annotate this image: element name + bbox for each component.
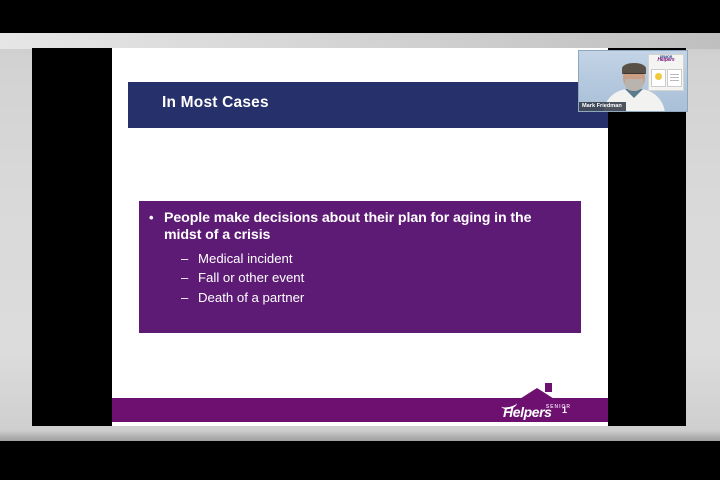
bullet-marker-icon: • xyxy=(149,210,164,226)
dash-marker-icon: – xyxy=(181,250,198,269)
poster-text-line xyxy=(670,74,679,75)
sub-bullet-text: Fall or other event xyxy=(198,268,304,287)
letterbox-bottom xyxy=(0,441,720,480)
main-bullet-text: People make decisions about their plan f… xyxy=(164,210,569,245)
list-item: – Fall or other event xyxy=(181,268,569,288)
dash-marker-icon: – xyxy=(181,269,198,288)
sub-bullet-text: Medical incident xyxy=(198,249,293,268)
poster-text-line xyxy=(670,77,679,78)
wall-poster: SENIOR Helpers xyxy=(648,54,684,91)
slide-title-bar: In Most Cases xyxy=(128,82,608,128)
participant-beard xyxy=(625,79,643,91)
frame-sheen xyxy=(0,33,720,49)
sub-bullet-text: Death of a partner xyxy=(198,288,304,307)
frame-shadow xyxy=(0,431,720,441)
main-bullet: • People make decisions about their plan… xyxy=(149,210,569,245)
poster-thumbnail xyxy=(667,69,682,87)
glasses-icon xyxy=(624,73,644,78)
list-item: – Death of a partner xyxy=(181,288,569,308)
logo-helpers-text: Helpers xyxy=(503,404,552,420)
senior-helpers-logo: SENIOR Helpers 1 xyxy=(497,382,575,422)
slide-title: In Most Cases xyxy=(162,94,269,112)
poster-sun-icon xyxy=(655,73,662,80)
letterbox-top xyxy=(0,0,720,33)
video-stage: In Most Cases • People make decisions ab… xyxy=(0,0,720,480)
sub-bullet-list: – Medical incident – Fall or other event… xyxy=(149,249,569,309)
presentation-slide: In Most Cases • People make decisions ab… xyxy=(112,48,608,426)
list-item: – Medical incident xyxy=(181,249,569,269)
webcam-tile[interactable]: SENIOR Helpers Mark Friedman xyxy=(578,50,688,112)
participant-name-label: Mark Friedman xyxy=(579,102,626,111)
poster-helpers-text: Helpers xyxy=(650,57,682,63)
dash-marker-icon: – xyxy=(181,289,198,308)
slide-page-number: 1 xyxy=(562,405,567,415)
slide-content-box: • People make decisions about their plan… xyxy=(139,201,581,333)
poster-text-line xyxy=(670,80,679,81)
poster-thumbnail xyxy=(651,69,666,87)
